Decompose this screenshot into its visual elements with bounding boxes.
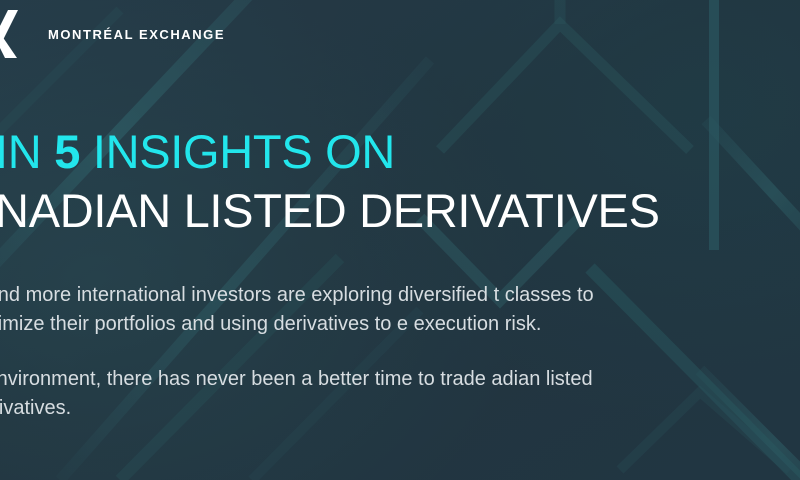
- headline-suffix: INSIGHTS ON: [80, 125, 395, 178]
- hero-body-copy: e and more international investors are e…: [0, 281, 670, 423]
- mx-logo-icon[interactable]: [0, 8, 20, 60]
- headline-insight-count: 5: [54, 125, 80, 178]
- headline-line-1: AIN 5 INSIGHTS ON: [0, 128, 800, 175]
- headline-line-2: ANADIAN LISTED DERIVATIVES: [0, 187, 800, 234]
- hero-headline: AIN 5 INSIGHTS ON ANADIAN LISTED DERIVAT…: [0, 128, 800, 234]
- body-paragraph-2: s environment, there has never been a be…: [0, 365, 670, 423]
- hero-banner: MONTRÉAL EXCHANGE AIN 5 INSIGHTS ON ANAD…: [0, 0, 800, 480]
- brand-header: MONTRÉAL EXCHANGE: [0, 8, 225, 60]
- body-paragraph-1: e and more international investors are e…: [0, 281, 670, 339]
- headline-prefix: AIN: [0, 125, 54, 178]
- brand-name: MONTRÉAL EXCHANGE: [48, 28, 225, 41]
